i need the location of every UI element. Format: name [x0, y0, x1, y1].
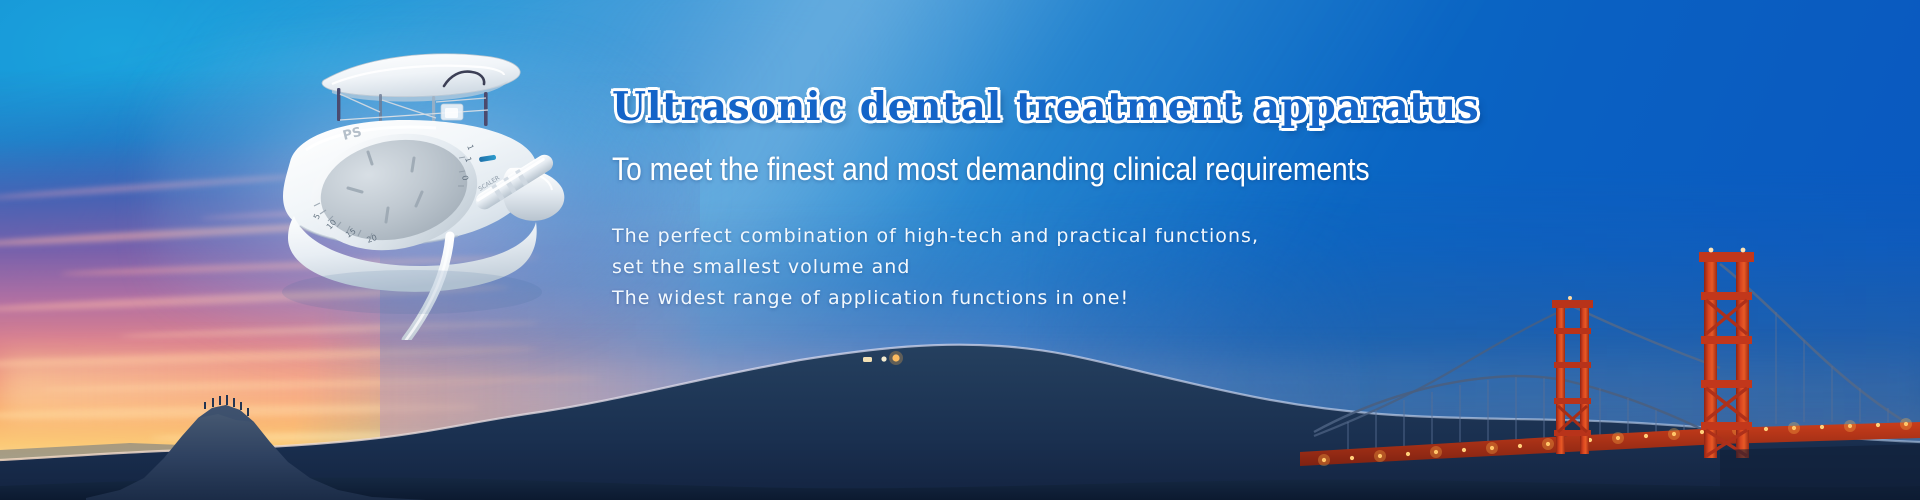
- ultrasonic-dental-scaler-device: PS 5 10 15 20 0 1 1: [236, 40, 636, 340]
- promotional-banner: PS 5 10 15 20 0 1 1: [0, 0, 1920, 500]
- body-copy-line-2: set the smallest volume and: [612, 252, 1612, 283]
- banner-body-copy: The perfect combination of high-tech and…: [612, 221, 1612, 314]
- bridge-tower-near: [1699, 248, 1754, 458]
- rocky-island-silhouette: [86, 350, 426, 500]
- banner-subheadline: To meet the finest and most demanding cl…: [612, 150, 1492, 188]
- bridge-tower-far: [1552, 296, 1593, 454]
- banner-text-block: Ultrasonic dental treatment apparatus To…: [612, 84, 1612, 314]
- page-title: Ultrasonic dental treatment apparatus: [612, 84, 1612, 130]
- device-canopy: [322, 54, 520, 102]
- body-copy-line-1: The perfect combination of high-tech and…: [612, 221, 1612, 252]
- body-copy-line-3: The widest range of application function…: [612, 283, 1612, 314]
